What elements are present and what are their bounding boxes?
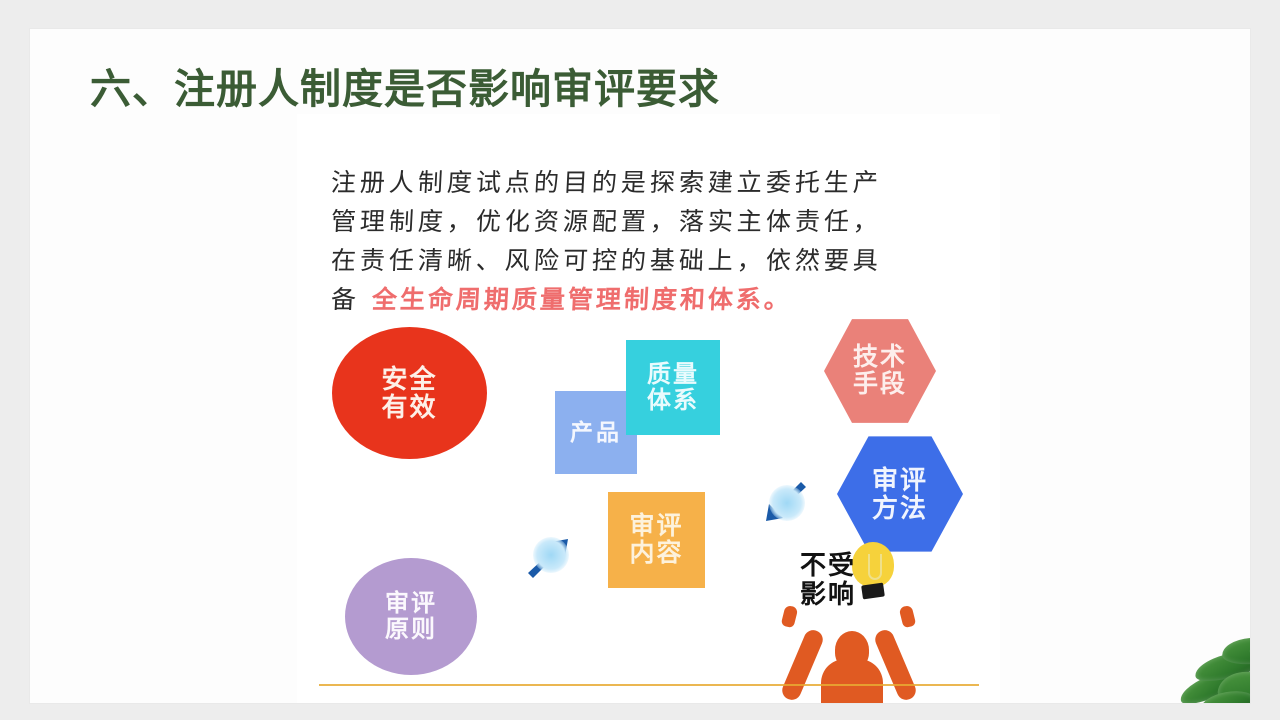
handwriting-line-3: 在责任清晰、风险可控的基础上，依然要具 bbox=[330, 241, 883, 277]
diagram-shape-method-label: 审评 方法 bbox=[872, 466, 928, 522]
diagram-shape-technique-line2: 手段 bbox=[853, 370, 907, 398]
diagram-shape-quality-line1: 质量 bbox=[647, 361, 699, 388]
diagram-shape-principle: 审评 原则 bbox=[345, 558, 477, 675]
diagram-shape-safety: 安全 有效 bbox=[332, 327, 487, 459]
diagram-shape-content-label: 审评 内容 bbox=[629, 513, 683, 567]
person-cheering-icon bbox=[769, 604, 929, 703]
diagram-shape-method: 审评 方法 bbox=[837, 434, 963, 554]
arrow-glow bbox=[533, 537, 569, 573]
diagram-shape-technique-line1: 技术 bbox=[853, 343, 907, 371]
diagram-shape-method-line2: 方法 bbox=[872, 493, 928, 523]
arrow-up-right-icon bbox=[522, 529, 576, 583]
person-hand-right bbox=[899, 605, 917, 629]
handwriting-line-4-prefix: 备 bbox=[330, 285, 361, 314]
diagram-shape-method-line1: 审评 bbox=[872, 465, 928, 495]
person-body bbox=[821, 659, 883, 703]
page-title: 六、注册人制度是否影响审评要求 bbox=[90, 65, 720, 114]
diagram-shape-product: 产品 bbox=[555, 391, 637, 474]
callout-not-affected: 不受 影响 bbox=[780, 551, 876, 609]
slide-surface: 六、注册人制度是否影响审评要求 注册人制度试点的目的是探索建立委托生产 管理制度… bbox=[30, 29, 1250, 703]
handwriting-line-4: 备 全生命周期质量管理制度和体系。 bbox=[330, 280, 793, 316]
diagram-shape-safety-line1: 安全 bbox=[381, 364, 437, 394]
succulent-plant-icon bbox=[1140, 614, 1250, 703]
arrow-glow bbox=[769, 485, 805, 521]
accent-rule bbox=[319, 684, 979, 686]
callout-line-1: 不受 bbox=[780, 551, 876, 580]
person-arm-left bbox=[779, 627, 825, 703]
diagram-shape-safety-line2: 有效 bbox=[381, 392, 437, 422]
diagram-shape-principle-label: 审评 原则 bbox=[385, 591, 437, 643]
diagram-shape-principle-line2: 原则 bbox=[385, 616, 437, 643]
person-hand-left bbox=[781, 605, 799, 629]
diagram-shape-principle-line1: 审评 bbox=[385, 590, 437, 617]
diagram-shape-technique-label: 技术 手段 bbox=[853, 344, 907, 398]
slide-root: 六、注册人制度是否影响审评要求 注册人制度试点的目的是探索建立委托生产 管理制度… bbox=[0, 0, 1280, 720]
arrow-down-left-icon bbox=[758, 477, 812, 531]
handwriting-line-4-highlight: 全生命周期质量管理制度和体系。 bbox=[371, 285, 793, 314]
diagram-shape-technique: 技术 手段 bbox=[824, 317, 936, 425]
handwriting-line-2: 管理制度，优化资源配置，落实主体责任， bbox=[330, 202, 883, 238]
diagram-shape-content-line2: 内容 bbox=[629, 539, 683, 567]
slide-picture: 注册人制度试点的目的是探索建立委托生产 管理制度，优化资源配置，落实主体责任， … bbox=[297, 114, 1000, 703]
diagram-shape-content: 审评 内容 bbox=[608, 492, 705, 588]
diagram-shape-quality-line2: 体系 bbox=[647, 387, 699, 414]
handwriting-line-1: 注册人制度试点的目的是探索建立委托生产 bbox=[330, 163, 883, 199]
diagram-shape-quality-label: 质量 体系 bbox=[647, 362, 699, 414]
diagram-shape-product-label: 产品 bbox=[570, 420, 622, 445]
diagram-shape-safety-label: 安全 有效 bbox=[381, 365, 437, 421]
diagram-shape-quality: 质量 体系 bbox=[626, 340, 720, 435]
diagram-shape-content-line1: 审评 bbox=[629, 512, 683, 540]
